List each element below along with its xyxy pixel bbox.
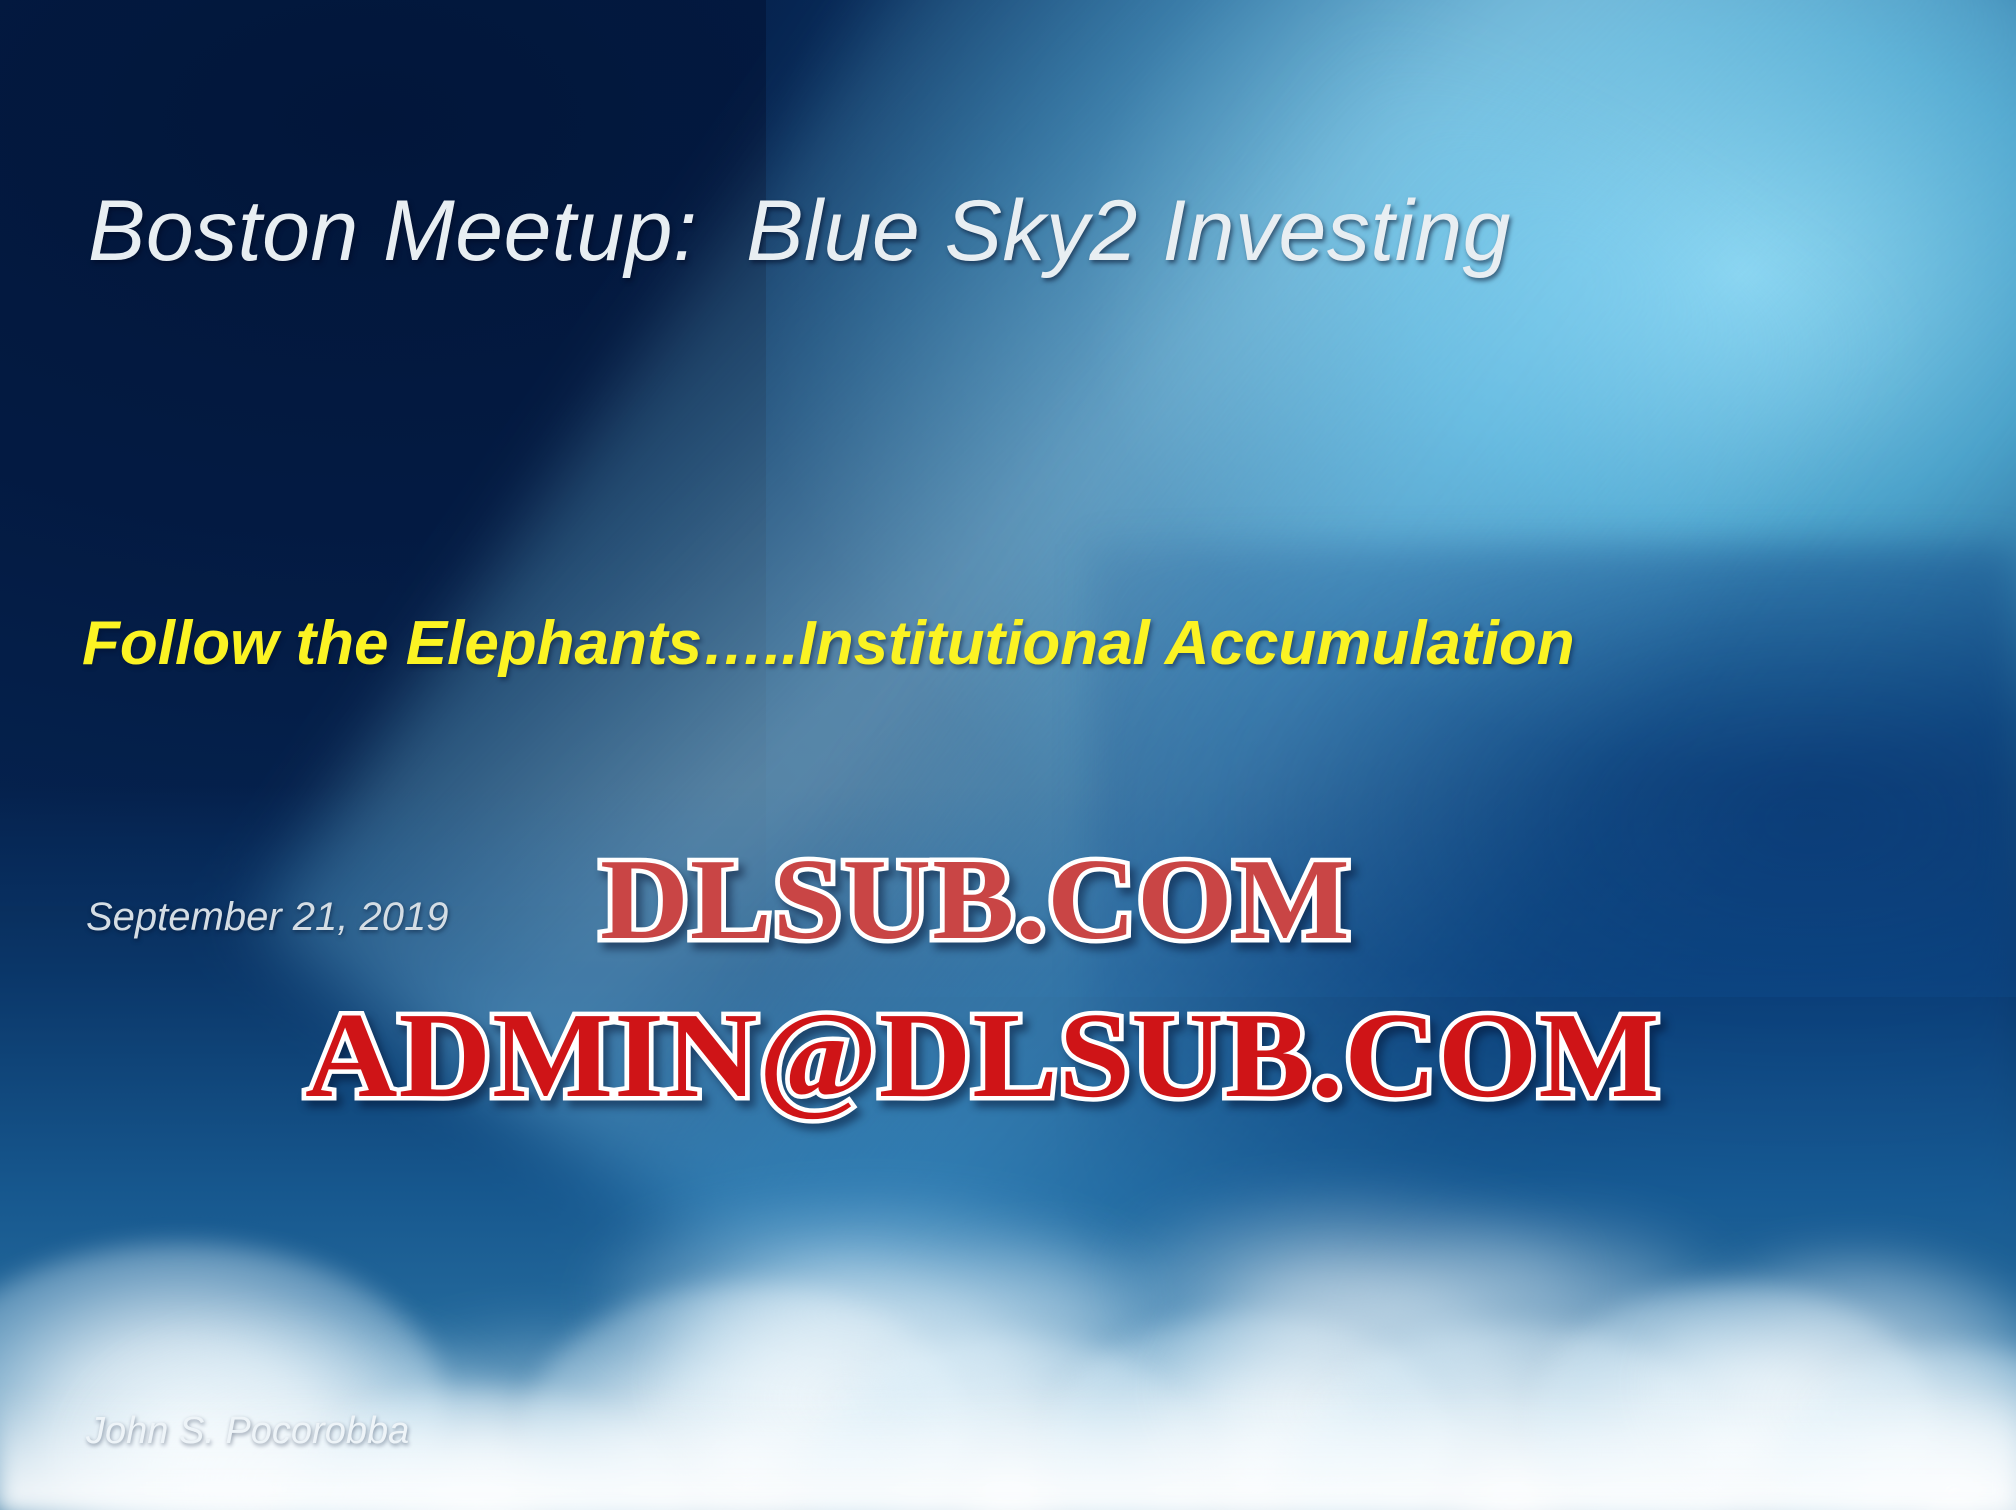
presenter-contact-block: John S. Pocorobba JPoco722@gmail.com Twi… [86,1278,591,1510]
presentation-slide: Boston Meetup: Blue Sky2 Investing Follo… [0,0,2016,1510]
presenter-name: John S. Pocorobba [86,1401,591,1463]
cloud-puff [1129,1202,1573,1356]
slide-date: September 21, 2019 [86,895,448,940]
cloud-puff [605,1212,1129,1387]
watermark-site: DLSUB.COM [600,834,1351,967]
slide-subtitle: Follow the Elephants…..Institutional Acc… [82,608,1575,679]
watermark-contact-email: ADMIN@DLSUB.COM [305,986,1660,1126]
page-title: Boston Meetup: Blue Sky2 Investing [88,182,1511,281]
